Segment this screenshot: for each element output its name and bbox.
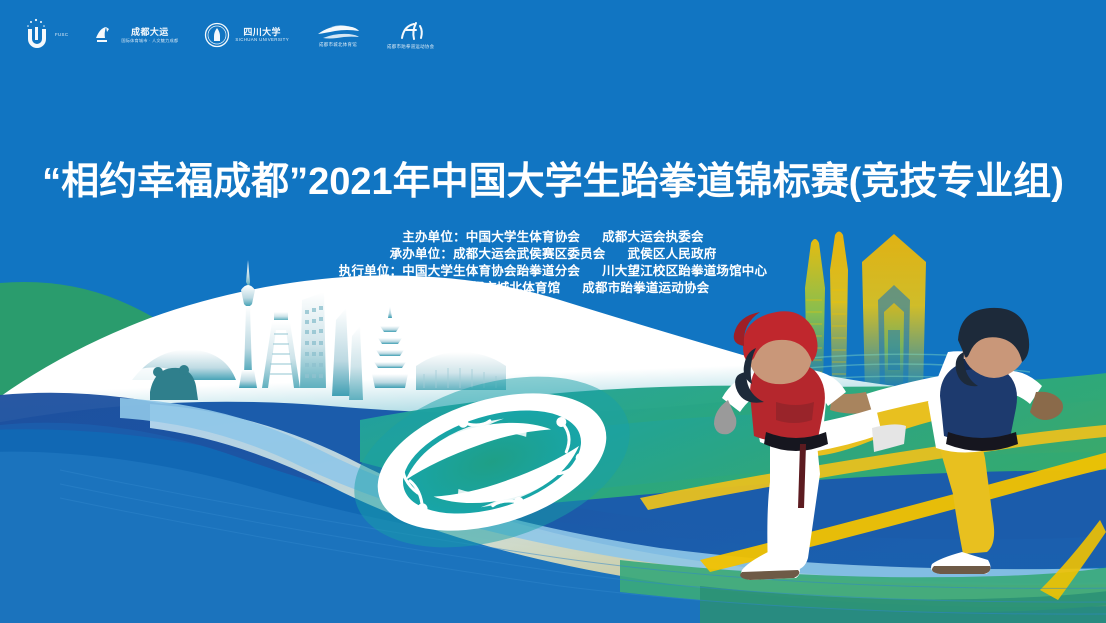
- organiser-block: 主办单位：中国大学生体育协会成都大运会执委会 承办单位：成都大运会武侯赛区委员会…: [0, 229, 1106, 297]
- chengdu-taekwondo-association-logo: 成都市跆拳道运动协会: [387, 20, 434, 50]
- organiser-value: 成都大运会执委会: [602, 230, 704, 244]
- organiser-label: 承办单位：: [390, 247, 454, 261]
- organiser-row: 承办单位：成都大运会武侯赛区委员会武侯区人民政府: [0, 246, 1106, 263]
- organiser-value: 中国大学生体育协会跆拳道分会: [402, 264, 580, 278]
- universiade-mark-icon: [94, 24, 116, 46]
- stadium-swoosh-icon: [315, 22, 361, 42]
- organiser-value: 川大望江校区跆拳道场馆中心: [602, 264, 767, 278]
- organiser-value: 成都市跆拳道运动协会: [582, 281, 709, 295]
- chengdu-taekwondo-association-caption: 成都市跆拳道运动协会: [387, 44, 434, 50]
- sichuan-university-logo: 四川大学 SICHUAN UNIVERSITY: [204, 22, 289, 48]
- sichuan-university-seal-icon: [204, 22, 230, 48]
- sichuan-university-logo-caption: SICHUAN UNIVERSITY: [235, 37, 289, 43]
- poster-artwork: [0, 0, 1106, 623]
- logo-bar: FUSC 成都大运 国际体育城市 · 人文魅力成都: [0, 0, 1106, 70]
- organiser-value: 武侯区人民政府: [628, 247, 717, 261]
- organiser-row: 执行单位：中国大学生体育协会跆拳道分会川大望江校区跆拳道场馆中心: [0, 263, 1106, 280]
- fusc-logo-caption: FUSC: [55, 32, 68, 38]
- organiser-value: 成都市城北体育馆: [459, 281, 561, 295]
- chengdu-city-north-stadium-logo: 成都市城北体育馆: [315, 22, 361, 48]
- organiser-row: 成都市城北体育馆成都市跆拳道运动协会: [0, 280, 1106, 297]
- fusc-emblem-icon: [24, 18, 50, 52]
- organiser-row: 主办单位：中国大学生体育协会成都大运会执委会: [0, 229, 1106, 246]
- organiser-value: 成都大运会武侯赛区委员会: [453, 247, 605, 261]
- taekwondo-calligraphy-icon: [396, 20, 426, 44]
- page-title: “相约幸福成都”2021年中国大学生跆拳道锦标赛(竞技专业组): [0, 156, 1106, 208]
- organiser-value: 中国大学生体育协会: [466, 230, 580, 244]
- chengdu-universiade-logo: 成都大运 国际体育城市 · 人文魅力成都: [94, 24, 178, 46]
- event-poster: FUSC 成都大运 国际体育城市 · 人文魅力成都: [0, 0, 1106, 623]
- chengdu-universiade-logo-cn: 成都大运: [131, 27, 169, 37]
- chengdu-universiade-logo-caption: 国际体育城市 · 人文魅力成都: [121, 38, 178, 43]
- organiser-label: 执行单位：: [339, 264, 403, 278]
- organiser-label: 主办单位：: [402, 230, 466, 244]
- chengdu-city-north-stadium-caption: 成都市城北体育馆: [319, 42, 357, 48]
- sichuan-university-logo-cn: 四川大学: [243, 27, 281, 37]
- fusc-logo: FUSC: [24, 18, 68, 52]
